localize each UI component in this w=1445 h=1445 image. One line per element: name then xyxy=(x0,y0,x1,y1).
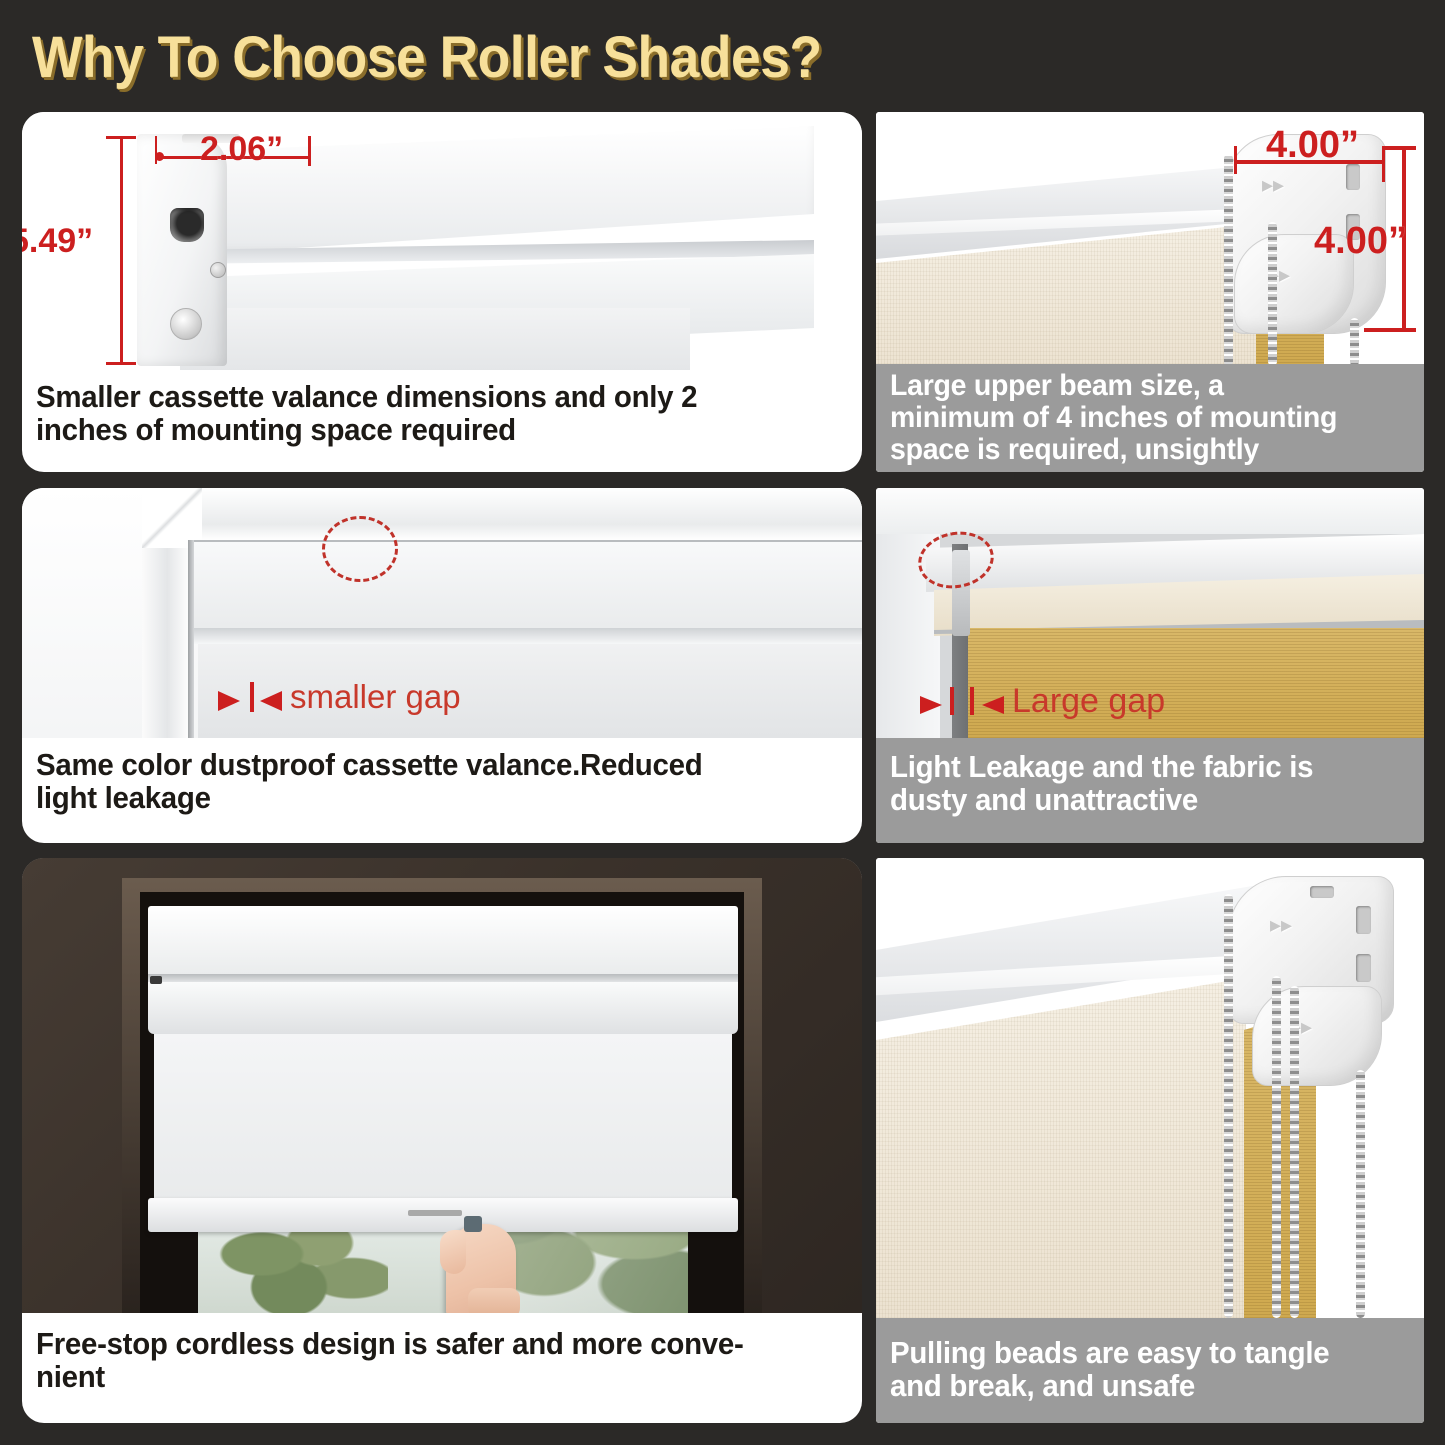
bracket-slot-upper xyxy=(1346,164,1360,190)
headrail-lower-lip xyxy=(148,982,738,1034)
height-dimension-label: 5.49” xyxy=(22,222,93,261)
gap-marker-line xyxy=(250,682,254,712)
light-leakage-photo: Large gap xyxy=(876,488,1424,738)
height-dimension-tick-bottom xyxy=(106,362,136,365)
caption-line-1: Large upper beam size, a xyxy=(890,370,1224,402)
caption-line-2: minimum of 4 inches of mounting xyxy=(890,402,1337,434)
bead-chain-front[interactable] xyxy=(1224,154,1233,364)
beam-width-tick-right xyxy=(1382,146,1385,182)
infographic-root: Why To Choose Roller Shades? 2.06” xyxy=(0,0,1445,1445)
panel-large-gap: Large gap Light Leakage and the fabric i… xyxy=(876,488,1424,843)
hand-forearm xyxy=(468,1288,520,1313)
beam-height-tick-top xyxy=(1382,146,1416,150)
caption-line-1: Pulling beads are easy to tangle xyxy=(890,1336,1329,1369)
bead-chain-second[interactable] xyxy=(1272,976,1281,1318)
panel-caption: Large upper beam size, a minimum of 4 in… xyxy=(876,364,1424,472)
bracket-arrow-emboss-upper: ▸▸ xyxy=(1262,174,1284,196)
ceiling-band xyxy=(876,488,1424,534)
gap-marker-line-left xyxy=(950,687,954,715)
cordless-shade-window-photo xyxy=(22,858,862,1313)
valance-fabric-drop xyxy=(180,308,690,370)
pull-tab-icon xyxy=(464,1216,482,1232)
bracket-pin-icon xyxy=(170,308,202,340)
gap-label: smaller gap xyxy=(290,678,461,716)
side-rail xyxy=(188,540,194,738)
bead-chain-shade-photo: ▸▸ ▸▸ xyxy=(876,858,1424,1318)
roller-shade-beam-photo: ▸▸ ▸▸ 4.00” 4.00” xyxy=(876,112,1424,364)
caption-line-2: inches of mounting space required xyxy=(36,413,516,446)
panel-cordless-design: Free-stop cordless design is safer and m… xyxy=(22,858,862,1423)
gap-label: Large gap xyxy=(1012,682,1165,721)
width-dimension-label: 2.06” xyxy=(200,130,283,169)
cassette-valance-front xyxy=(190,540,862,632)
cream-fabric-panel xyxy=(876,978,1246,1318)
cassette-valance-photo: 2.06” 5.49” xyxy=(22,112,862,370)
headrail-cassette xyxy=(148,906,738,978)
caption-line-1: Free-stop cordless design is safer and m… xyxy=(36,1327,744,1360)
bracket-screw-icon xyxy=(210,262,226,278)
panel-smaller-gap: smaller gap Same color dustproof cassett… xyxy=(22,488,862,843)
panel-caption: Free-stop cordless design is safer and m… xyxy=(22,1313,862,1423)
caption-line-2: dusty and unattractive xyxy=(890,783,1198,816)
bracket-slot-upper xyxy=(1356,906,1371,934)
beam-height-label: 4.00” xyxy=(1314,220,1407,263)
window-frame-corner-bevel xyxy=(142,488,202,548)
caption-line-1: Smaller cassette valance dimensions and … xyxy=(36,380,697,413)
gap-highlight-circle xyxy=(322,516,398,582)
bracket-keyhole-icon xyxy=(170,208,204,242)
bracket-notch xyxy=(1310,886,1334,898)
gap-arrow-right xyxy=(982,696,1004,714)
width-dimension-tick-left xyxy=(155,136,157,164)
gap-arrow-left xyxy=(920,696,942,714)
height-dimension-tick-top xyxy=(106,136,136,139)
caption-line-1: Same color dustproof cassette valance.Re… xyxy=(36,748,702,781)
cassette-valance-lip xyxy=(190,628,862,644)
beam-width-tick-left xyxy=(1234,146,1237,174)
bead-chain-loop[interactable] xyxy=(1350,318,1359,364)
caption-line-1: Light Leakage and the fabric is xyxy=(890,750,1313,783)
bead-chain-middle[interactable] xyxy=(1268,222,1277,364)
bead-chain-loop[interactable] xyxy=(1356,1070,1365,1318)
window-frame-top-moulding xyxy=(142,488,862,540)
caption-line-2: nient xyxy=(36,1360,105,1393)
beam-height-tick-bottom xyxy=(1364,328,1416,332)
bead-chain-front[interactable] xyxy=(1224,894,1233,1318)
caption-line-3: space is required, unsightly xyxy=(890,434,1259,466)
panel-caption: Same color dustproof cassette valance.Re… xyxy=(22,738,862,843)
panel-cassette-dimensions: 2.06” 5.49” Smaller cassette valance dim… xyxy=(22,112,862,472)
width-dimension-tick-right xyxy=(308,136,311,166)
bead-chain-third[interactable] xyxy=(1290,986,1299,1318)
height-dimension-line xyxy=(120,136,123,364)
gap-arrow-left xyxy=(218,691,240,711)
panel-large-upper-beam: ▸▸ ▸▸ 4.00” 4.00” Large upper beam size,… xyxy=(876,112,1424,472)
bracket-slot-lower xyxy=(1356,954,1371,982)
panel-caption: Light Leakage and the fabric is dusty an… xyxy=(876,738,1424,843)
caption-line-2: and break, and unsafe xyxy=(890,1369,1195,1402)
page-title: Why To Choose Roller Shades? xyxy=(32,22,1044,94)
panel-caption: Smaller cassette valance dimensions and … xyxy=(22,370,862,472)
shade-fabric-panel xyxy=(154,1034,732,1212)
hand-thumb xyxy=(440,1230,466,1274)
panel-caption: Pulling beads are easy to tangle and bre… xyxy=(876,1318,1424,1423)
caption-line-2: light leakage xyxy=(36,781,211,814)
gap-marker-line-right xyxy=(970,687,974,715)
cassette-in-window-photo: smaller gap xyxy=(22,488,862,738)
bracket-arrow-emboss-upper: ▸▸ xyxy=(1270,914,1292,936)
panel-pulling-beads: ▸▸ ▸▸ Pulling beads are easy to tangle a… xyxy=(876,858,1424,1423)
headrail-end-tab-icon xyxy=(150,976,162,984)
beam-width-label: 4.00” xyxy=(1266,124,1359,167)
gap-arrow-right xyxy=(260,691,282,711)
bottom-rail-brand-mark xyxy=(408,1210,462,1216)
